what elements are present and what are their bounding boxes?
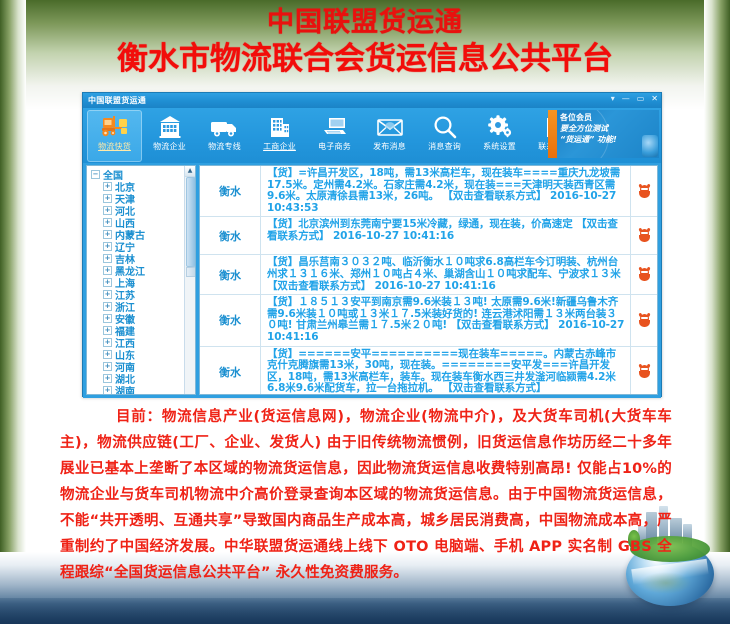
- tree-node-jiangxi[interactable]: +江西: [89, 336, 195, 348]
- toolbar-item-logistics-company[interactable]: 物流企业: [142, 110, 197, 162]
- tree-node-henan[interactable]: +河南: [89, 360, 195, 372]
- tree-node-hebei[interactable]: +河北: [89, 204, 195, 216]
- promo-content: 各位会员 要全方位测试 “货运通” 功能!: [557, 110, 659, 158]
- row-timestamp: 2016-10-27 10:41:16: [375, 280, 496, 292]
- row-contact-cell[interactable]: [630, 166, 657, 216]
- tree-node-shandong[interactable]: +山东: [89, 348, 195, 360]
- row-content: 【货】昌乐莒南３０３２吨、临沂衡水１０吨求6.8高栏车今订明装、杭州台州求１３１…: [261, 255, 630, 294]
- toolbar-item-label: 系统设置: [483, 142, 516, 152]
- promo-accent-bar: [548, 110, 557, 158]
- toolbar-item-label: 工商企业: [263, 142, 296, 152]
- toolbar-item-label: 物流专线: [208, 142, 241, 152]
- envelope-icon: [376, 112, 404, 142]
- toolbar-item-label: 发布消息: [373, 142, 406, 152]
- toolbar-item-industrial-commercial[interactable]: 工商企业: [252, 110, 307, 162]
- row-contact-cell[interactable]: [630, 295, 657, 345]
- computer-icon: [321, 112, 349, 142]
- tree-node-fujian[interactable]: +福建: [89, 324, 195, 336]
- table-row[interactable]: 衡水 【货】=许昌开发区，18吨，需13米高栏车，现在装车====重庆九龙坡需1…: [200, 166, 657, 217]
- toolbar-item-label: 物流企业: [153, 142, 186, 152]
- expander-icon[interactable]: +: [103, 374, 112, 383]
- tree-node-hunan[interactable]: +湖南: [89, 384, 195, 395]
- tree-node-heilongjiang[interactable]: +黑龙江: [89, 264, 195, 276]
- tree-node-jiangsu[interactable]: +江苏: [89, 288, 195, 300]
- scrollbar-thumb[interactable]: [186, 177, 196, 267]
- row-contact-cell[interactable]: [630, 347, 657, 395]
- qq-contact-icon[interactable]: [639, 185, 650, 198]
- qq-contact-icon[interactable]: [639, 229, 650, 242]
- row-message: 【货】======安平==========现在装车=====。内蒙古赤峰市克什克…: [267, 348, 616, 395]
- scroll-up-icon[interactable]: ▲: [185, 166, 195, 177]
- tree-node-liaoning[interactable]: +辽宁: [89, 240, 195, 252]
- tree-node-hubei[interactable]: +湖北: [89, 372, 195, 384]
- promotional-paragraph: 目前：物流信息产业(货运信息网)，物流企业(物流中介)，及大货车司机(大货车车主…: [60, 404, 672, 586]
- expander-icon[interactable]: +: [103, 338, 112, 347]
- maximize-icon[interactable]: ▭: [637, 94, 645, 104]
- expander-icon[interactable]: +: [103, 254, 112, 263]
- qq-contact-icon[interactable]: [639, 314, 650, 327]
- dropdown-icon[interactable]: ▾: [611, 94, 615, 104]
- page-background-left-edge: [0, 0, 26, 624]
- qq-contact-icon[interactable]: [639, 365, 650, 378]
- promo-banner[interactable]: 各位会员 要全方位测试 “货运通” 功能!: [548, 110, 659, 158]
- expander-icon[interactable]: +: [103, 230, 112, 239]
- gear-icon: [486, 112, 514, 142]
- expander-icon[interactable]: +: [103, 242, 112, 251]
- cargo-list-table: 衡水 【货】=许昌开发区，18吨，需13米高栏车，现在装车====重庆九龙坡需1…: [199, 165, 658, 395]
- close-icon[interactable]: ✕: [651, 94, 658, 104]
- search-icon: [432, 112, 458, 142]
- page-title-primary: 中国联盟货运通: [0, 6, 730, 40]
- expander-icon[interactable]: +: [103, 266, 112, 275]
- expander-icon[interactable]: +: [103, 326, 112, 335]
- table-row[interactable]: 衡水 【货】１８５１３安平到南京需9.6米装１３吨! 太原需9.6米!新疆乌鲁木…: [200, 295, 657, 346]
- tree-node-anhui[interactable]: +安徽: [89, 312, 195, 324]
- minimize-icon[interactable]: —: [622, 94, 630, 104]
- toolbar-item-message-query[interactable]: 消息查询: [417, 110, 472, 162]
- truck-icon: [210, 112, 240, 142]
- region-tree-panel: − 全国 +北京 +天津 +河北 +山西 +内蒙古 +辽宁 +吉林 +黑龙江 +…: [86, 165, 196, 395]
- expander-icon[interactable]: −: [91, 170, 100, 179]
- promo-line-1: 各位会员: [560, 112, 656, 123]
- expander-icon[interactable]: +: [103, 386, 112, 395]
- promo-globe-icon: [642, 135, 658, 157]
- table-row[interactable]: 衡水 【货】昌乐莒南３０３２吨、临沂衡水１０吨求6.8高栏车今订明装、杭州台州求…: [200, 255, 657, 295]
- forklift-icon: [101, 112, 129, 142]
- application-window: 中国联盟货运通 ▾ — ▭ ✕: [82, 92, 662, 397]
- window-title: 中国联盟货运通: [86, 95, 146, 106]
- toolbar-item-logistics-cargo[interactable]: 物流快货: [87, 110, 142, 162]
- table-row[interactable]: 衡水 【货】北京滨州到东莞南宁要15米冷藏，绿通，现在装，价高速定 【双击查看联…: [200, 217, 657, 255]
- expander-icon[interactable]: +: [103, 182, 112, 191]
- expander-icon[interactable]: +: [103, 278, 112, 287]
- main-toolbar: 物流快货 物流企业: [83, 108, 661, 163]
- tree-node-neimenggu[interactable]: +内蒙古: [89, 228, 195, 240]
- expander-icon[interactable]: +: [103, 350, 112, 359]
- expander-icon[interactable]: +: [103, 194, 112, 203]
- row-city: 衡水: [200, 217, 261, 254]
- toolbar-item-label: 物流快货: [98, 142, 131, 152]
- promo-line-2: 要全方位测试: [560, 123, 656, 134]
- toolbar-item-label: 消息查询: [428, 142, 461, 152]
- row-content: 【货】======安平==========现在装车=====。内蒙古赤峰市克什克…: [261, 347, 630, 395]
- toolbar-item-ecommerce[interactable]: 电子商务: [307, 110, 362, 162]
- region-tree: − 全国 +北京 +天津 +河北 +山西 +内蒙古 +辽宁 +吉林 +黑龙江 +…: [87, 166, 195, 395]
- expander-icon[interactable]: +: [103, 362, 112, 371]
- building-icon: [157, 112, 183, 142]
- table-row[interactable]: 衡水 【货】======安平==========现在装车=====。内蒙古赤峰市…: [200, 347, 657, 395]
- tree-node-zhejiang[interactable]: +浙江: [89, 300, 195, 312]
- toolbar-item-system-settings[interactable]: 系统设置: [472, 110, 527, 162]
- row-timestamp: 2016-10-27 10:41:16: [333, 230, 454, 242]
- expander-icon[interactable]: +: [103, 314, 112, 323]
- expander-icon[interactable]: +: [103, 302, 112, 311]
- expander-icon[interactable]: +: [103, 218, 112, 227]
- toolbar-item-logistics-line[interactable]: 物流专线: [197, 110, 252, 162]
- row-content: 【货】=许昌开发区，18吨，需13米高栏车，现在装车====重庆九龙坡需17.5…: [261, 166, 630, 216]
- row-contact-cell[interactable]: [630, 255, 657, 294]
- page-title-block: 中国联盟货运通 衡水市物流联合会货运信息公共平台: [0, 6, 730, 78]
- toolbar-item-label: 电子商务: [318, 142, 351, 152]
- scrollbar-track[interactable]: [186, 267, 196, 277]
- row-content: 【货】北京滨州到东莞南宁要15米冷藏，绿通，现在装，价高速定 【双击查看联系方式…: [261, 217, 630, 254]
- qq-contact-icon[interactable]: [639, 268, 650, 281]
- window-body: − 全国 +北京 +天津 +河北 +山西 +内蒙古 +辽宁 +吉林 +黑龙江 +…: [83, 163, 661, 398]
- tree-node-beijing[interactable]: +北京: [89, 180, 195, 192]
- tree-node-label: 湖南: [115, 383, 135, 396]
- row-city: 衡水: [200, 166, 261, 216]
- expander-icon[interactable]: +: [103, 290, 112, 299]
- window-titlebar[interactable]: 中国联盟货运通 ▾ — ▭ ✕: [83, 93, 661, 108]
- page-title-secondary: 衡水市物流联合会货运信息公共平台: [0, 40, 730, 78]
- row-city: 衡水: [200, 347, 261, 395]
- expander-icon[interactable]: +: [103, 206, 112, 215]
- window-controls: ▾ — ▭ ✕: [611, 94, 658, 104]
- tree-node-tianjin[interactable]: +天津: [89, 192, 195, 204]
- row-city: 衡水: [200, 255, 261, 294]
- tree-node-root[interactable]: − 全国: [89, 168, 195, 180]
- row-contact-cell[interactable]: [630, 217, 657, 254]
- office-icon: [267, 112, 293, 142]
- row-city: 衡水: [200, 295, 261, 345]
- tree-scrollbar[interactable]: ▲: [184, 166, 195, 394]
- tree-node-shanghai[interactable]: +上海: [89, 276, 195, 288]
- toolbar-item-publish-message[interactable]: 发布消息: [362, 110, 417, 162]
- row-content: 【货】１８５１３安平到南京需9.6米装１３吨! 太原需9.6米!新疆乌鲁木齐需9…: [261, 295, 630, 345]
